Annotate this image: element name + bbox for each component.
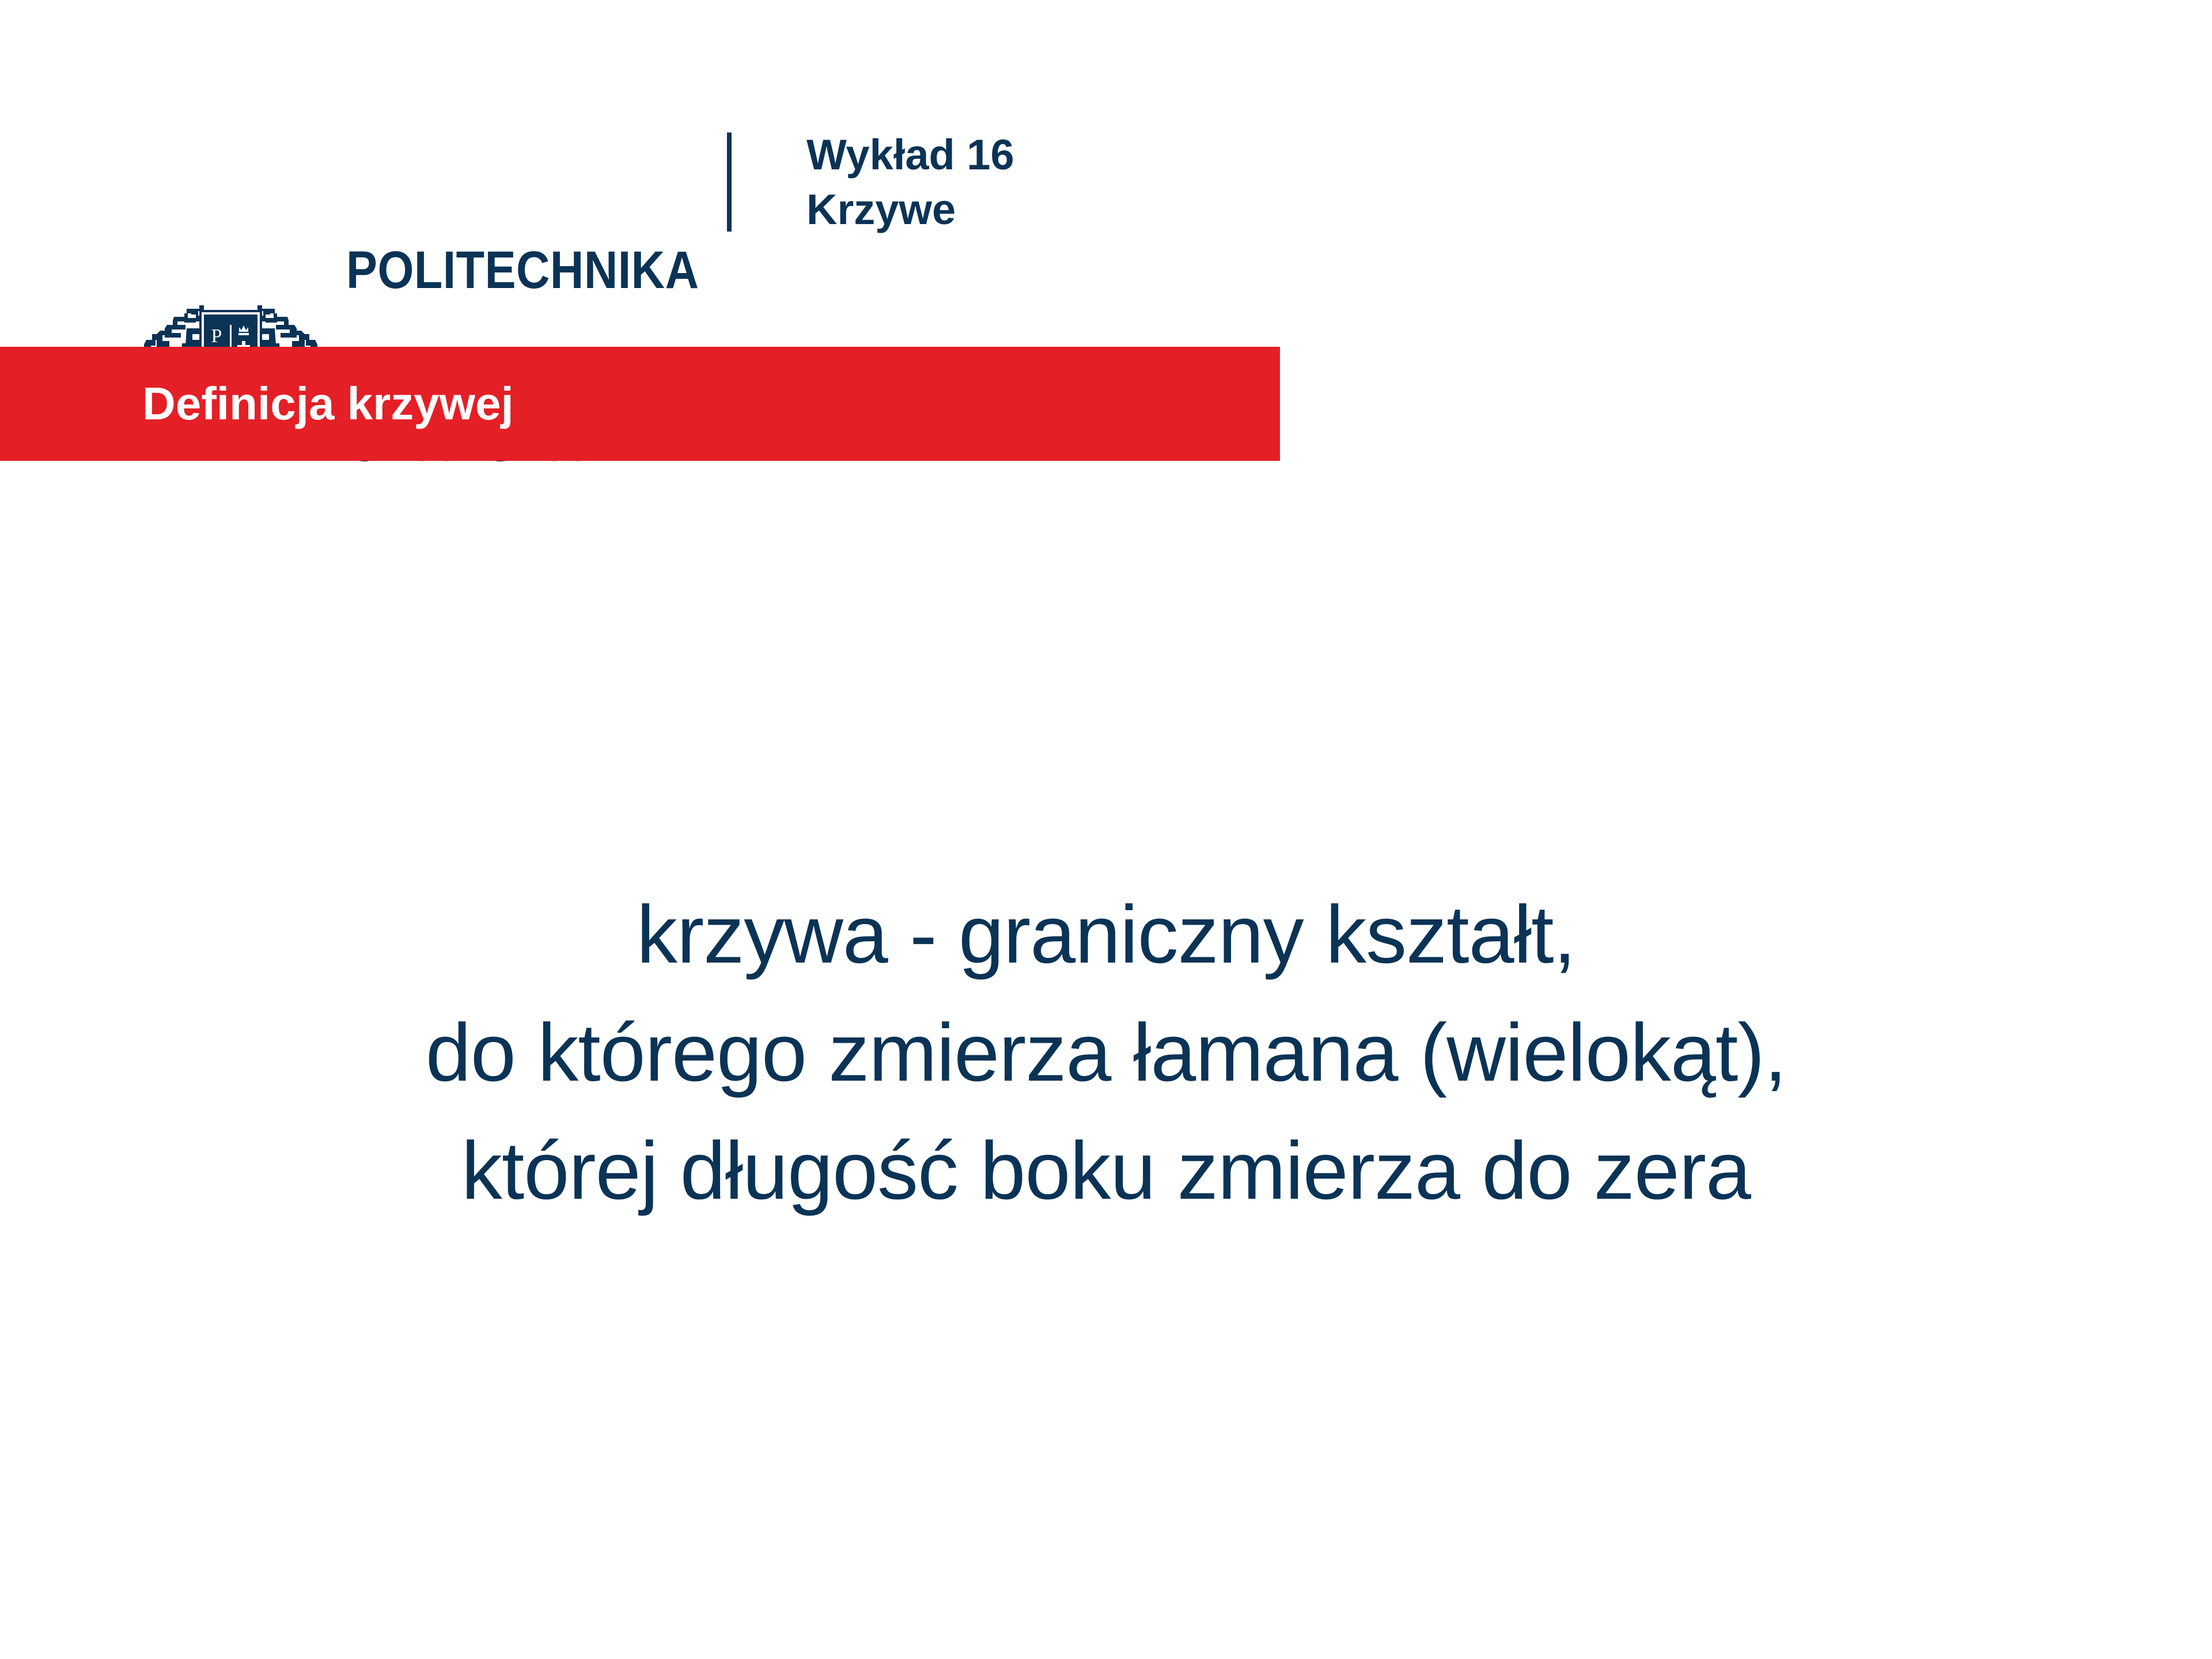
definition-line-3: której długość boku zmierza do zera [0,1112,2212,1230]
section-banner-title: Definicja krzywej [142,381,514,427]
lecture-number: Wykład 16 [806,128,1014,183]
lecture-title-block: Wykład 16 Krzywe [806,128,1014,237]
definition-text-block: krzywa - graniczny kształt, do którego z… [0,876,2212,1230]
definition-line-2: do którego zmierza łamana (wielokąt), [0,994,2212,1112]
lecture-topic: Krzywe [806,183,1014,237]
header-vertical-divider [727,132,732,232]
definition-line-1: krzywa - graniczny kształt, [0,876,2212,994]
slide-canvas: P G POLITECHNIKA GDAŃSKA Wykład 16 Krzyw… [0,0,2212,1659]
shield-letter-p: P [211,325,222,347]
slide-header: P G POLITECHNIKA GDAŃSKA Wykład 16 Krzyw… [0,0,2212,346]
section-banner: Definicja krzywej [0,347,1280,461]
wordmark-line-1: POLITECHNIKA [346,241,699,299]
